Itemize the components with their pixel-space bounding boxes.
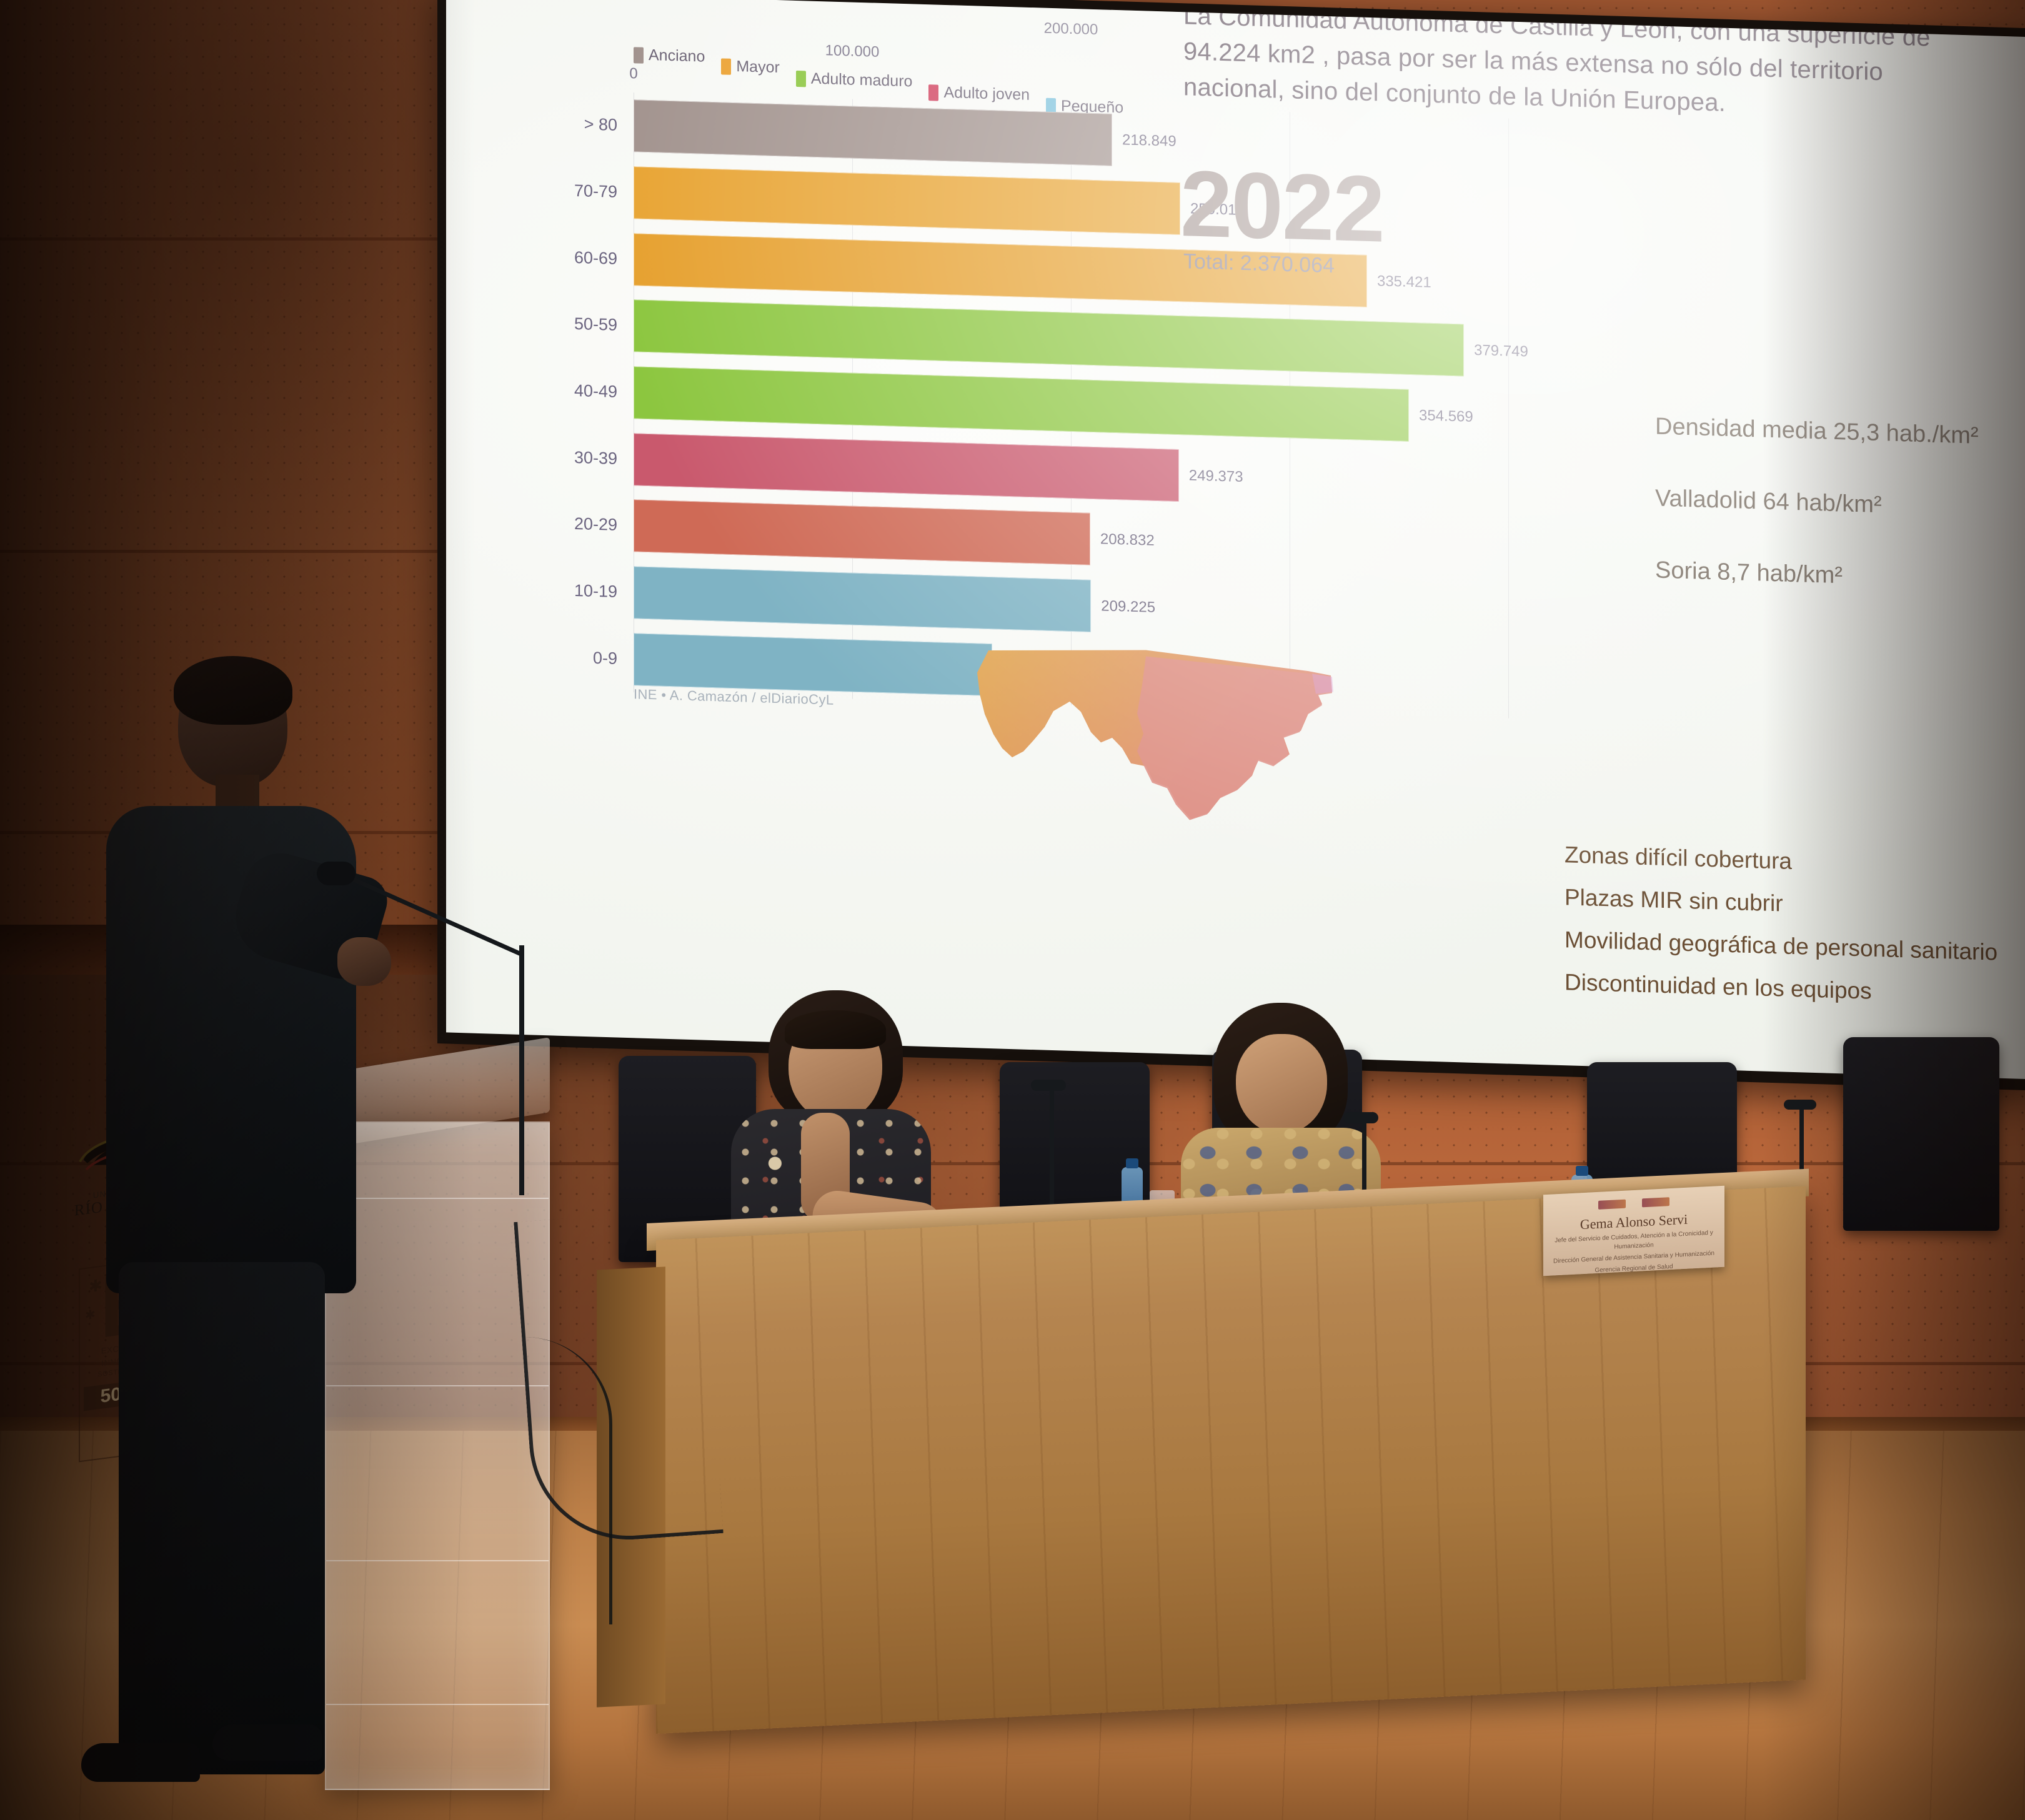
table-microphone-head [1784,1100,1816,1110]
microphone-post [519,945,524,1195]
legend-swatch [721,58,731,74]
stat-line: Valladolid 64 hab/km² [1655,485,2025,524]
speaker-at-lectern [94,662,394,1787]
chart-bar [634,433,1179,502]
legend-label: Adulto joven [943,84,1030,104]
chart-bar-value-label: 249.373 [1189,467,1243,486]
microphone-capsule-icon [317,862,356,885]
legend-item: Adulto maduro [796,69,913,91]
chart-y-tick-label: 50-59 [574,314,617,335]
lectern-microphone [341,872,565,1196]
chart-x-tick-label: 100.000 [825,42,880,61]
floor-cable [481,1337,612,1624]
chart-bar [634,166,1180,235]
list-item: Zonas difícil cobertura [1565,842,2025,882]
density-stats-block: Densidad media 25,3 hab./km² Valladolid … [1655,413,2025,640]
shoe [212,1724,322,1761]
list-item: Discontinuidad en los equipos [1565,969,2025,1010]
projected-slide: La Comunidad Autónoma de Castilla y León… [446,0,2025,1079]
castilla-y-leon-map-icon [958,634,1358,858]
chart-y-tick-label: 10-19 [574,581,617,602]
chart-y-tick-label: 40-49 [574,381,617,402]
nameplate: Gema Alonso Servi Jefe del Servicio de C… [1543,1186,1724,1276]
chart-x-tick-label: 200.000 [1044,20,1098,39]
slide-year: 2022 [1180,162,1384,251]
hair [174,656,292,725]
chair [1843,1037,1999,1231]
chart-x-tick-label: 0 [629,65,637,82]
challenges-list: Zonas difícil cobertura Plazas MIR sin c… [1565,842,2025,1026]
chart-bar [634,100,1112,167]
junta-logo-icon [1642,1197,1669,1207]
chart-bar-value-label: 218.849 [1122,132,1177,151]
stat-line: Densidad media 25,3 hab./km² [1655,413,2025,452]
sacyl-logo-icon [1598,1200,1626,1210]
population-pyramid-bar-chart: 0100.000200.000300.000400.000 > 80218.84… [634,92,1552,719]
chart-bar-value-label: 209.225 [1101,597,1155,617]
table-microphone-head [1343,1112,1378,1123]
chart-bar-value-label: 335.421 [1377,272,1431,292]
chart-y-tick-label: 60-69 [574,248,617,269]
legs [119,1262,325,1774]
chart-bar [634,500,1090,566]
legend-swatch [796,70,806,86]
list-item: Plazas MIR sin cubrir [1565,884,2025,925]
legend-item: Adulto joven [928,83,1030,104]
projection-screen-frame: La Comunidad Autónoma de Castilla y León… [437,0,2025,1091]
legend-swatch [928,84,938,101]
chart-y-tick-label: 30-39 [574,448,617,469]
legend-label: Mayor [736,57,779,77]
chart-y-tick-label: 70-79 [574,181,617,202]
chart-bar-value-label: 208.832 [1100,531,1155,550]
chart-bar-value-label: 379.749 [1474,342,1528,361]
shoe [81,1743,200,1782]
legend-item: Mayor [721,57,779,77]
chart-y-tick-label: 20-29 [574,514,617,535]
chart-bar [634,633,992,696]
legend-item: Anciano [634,46,705,66]
chart-y-tick-label: 0-9 [593,649,617,669]
chart-y-tick-label: > 80 [584,115,617,136]
legend-swatch [634,47,644,63]
legend-label: Adulto maduro [811,70,913,91]
auditorium-scene: La Comunidad Autónoma de Castilla y León… [0,0,2025,1820]
table-microphone-head [1031,1080,1066,1091]
table-microphone [1050,1087,1054,1218]
list-item: Movilidad geográfica de personal sanitar… [1565,927,2025,967]
chart-bar [634,566,1091,632]
stat-line: Soria 8,7 hab/km² [1655,557,2025,595]
legend-label: Anciano [649,46,705,66]
slide-total: Total: 2.370.064 [1183,249,1335,278]
face [1236,1034,1327,1134]
chart-bar-value-label: 354.569 [1419,407,1473,426]
bangs [785,1010,886,1049]
microphone-boom [340,872,524,957]
